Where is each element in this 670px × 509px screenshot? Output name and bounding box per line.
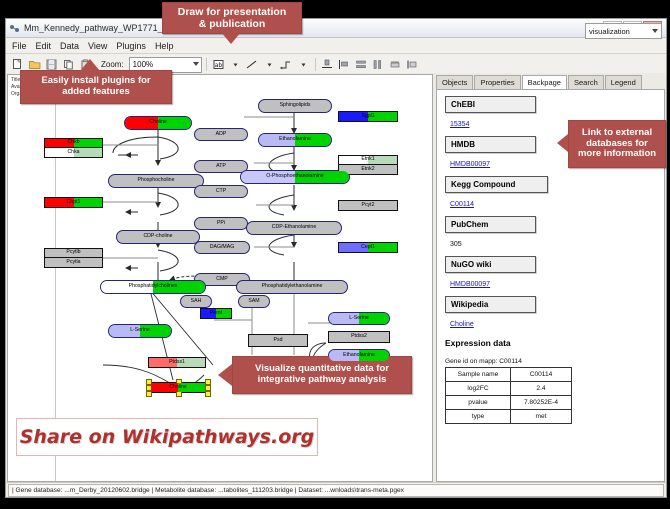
toolbar-separator	[315, 58, 316, 71]
text-label-icon[interactable]: ab	[211, 57, 226, 72]
db-link-kegg-compound[interactable]: C00114	[450, 201, 474, 208]
statusbar: | Gene database: ...m_Derby_20120602.bri…	[6, 482, 666, 497]
expression-table: Sample name C00114 log2FC 2.4 pvalue 7.8…	[445, 367, 572, 424]
callout-line: more information	[578, 149, 656, 160]
node-ethanolamine-bottom[interactable]: Ethanolamine	[328, 349, 390, 362]
cell-label: pvalue	[446, 396, 511, 410]
node-ethanolamine-top[interactable]: Ethanolamine	[258, 133, 332, 147]
node-pcytlb[interactable]: Pcytlb	[44, 248, 103, 258]
callout-link-external-databases: Link to external databases for more info…	[568, 120, 666, 168]
selection-handle[interactable]	[205, 391, 211, 397]
label-dropdown-icon[interactable]	[228, 57, 243, 72]
callout-arrow-down-icon	[221, 32, 241, 44]
db-link-hmdb[interactable]: HMDB00097	[450, 161, 490, 168]
db-link-nugo-wiki[interactable]: HMDB00097	[450, 281, 490, 288]
node-phosphatidylethanolamine[interactable]: Phosphatidylethanolamine	[236, 280, 348, 294]
menu-data[interactable]: Data	[60, 41, 79, 51]
node-l-serine-right[interactable]: L-Serine	[328, 312, 390, 325]
db-title-nugo-wiki: NuGO wiki	[445, 256, 536, 273]
menu-file[interactable]: File	[12, 41, 27, 51]
expression-data-heading: Expression data	[445, 338, 664, 348]
callout-install-plugins: Easily install plugins for added feature…	[20, 70, 172, 104]
table-row: pvalue 7.80252E-4	[446, 396, 572, 410]
node-chka[interactable]: Chka	[44, 148, 103, 158]
callout-draw-for-publication: Draw for presentation & publication	[162, 2, 302, 34]
cell-value: 7.80252E-4	[511, 396, 572, 410]
gene-id-line: Gene id on mapp: C00114	[445, 358, 664, 365]
distribute-horizontal-icon[interactable]	[371, 57, 386, 72]
db-title-hmdb: HMDB	[445, 136, 536, 153]
tab-legend[interactable]: Legend	[605, 75, 642, 89]
table-row: type met	[446, 410, 572, 424]
node-choline-selected[interactable]: Choline	[146, 379, 210, 395]
order-icon[interactable]	[405, 57, 420, 72]
table-row: log2FC 2.4	[446, 382, 572, 396]
node-etnk1[interactable]: Etnk1	[338, 155, 398, 165]
cell-value: met	[511, 410, 572, 424]
db-link-wikipedia[interactable]: Choline	[450, 321, 474, 328]
callout-arrow-left-icon	[218, 364, 232, 386]
node-ctp[interactable]: CTP	[194, 185, 248, 198]
distribute-vertical-icon[interactable]	[354, 57, 369, 72]
svg-text:ab: ab	[214, 62, 222, 69]
node-o-phosphoethanolamine[interactable]: O-Phosphoethanolamine	[240, 170, 350, 184]
align-left-icon[interactable]	[337, 57, 352, 72]
node-chkb[interactable]: Chkb	[44, 138, 103, 148]
node-l-serine-left[interactable]: L-Serine	[108, 324, 172, 338]
menu-view[interactable]: View	[88, 41, 107, 51]
chevron-down-icon	[193, 62, 199, 66]
node-sphingolipids[interactable]: Sphingolipids	[258, 99, 332, 113]
node-dag-mag[interactable]: DAG/MAG	[194, 241, 250, 254]
node-phosphocholine[interactable]: Phosphocholine	[108, 174, 204, 188]
menubar: File Edit Data View Plugins Help	[6, 38, 666, 54]
cell-label: log2FC	[446, 382, 511, 396]
node-sah[interactable]: SAH	[180, 295, 212, 308]
callout-line: integrative pathway analysis	[255, 375, 389, 386]
node-sgpl1[interactable]: Sgpl1	[338, 111, 398, 122]
node-sam[interactable]: SAM	[238, 295, 270, 308]
node-ptdss1[interactable]: Ptdss1	[148, 357, 206, 368]
status-text: | Gene database: ...m_Derby_20120602.bri…	[8, 484, 664, 497]
zoom-label: Zoom:	[101, 60, 124, 69]
node-choline-top[interactable]: Choline	[124, 116, 192, 130]
db-link-chebi[interactable]: 15354	[450, 121, 469, 128]
callout-line: added features	[41, 87, 150, 98]
node-pcytla[interactable]: Pcytla	[44, 258, 103, 268]
menu-edit[interactable]: Edit	[36, 41, 52, 51]
connector-tool-icon[interactable]	[279, 57, 294, 72]
connector-dropdown-icon[interactable]	[296, 57, 311, 72]
screenshot-root: Mm_Kennedy_pathway_WP1771_45176.gpml – □…	[0, 0, 670, 509]
node-cdp-choline[interactable]: CDP-choline	[116, 230, 200, 244]
callout-line: Link to external	[578, 128, 656, 139]
align-top-icon[interactable]	[320, 57, 335, 72]
visualization-combobox[interactable]: visualization	[585, 23, 662, 39]
tab-properties[interactable]: Properties	[474, 75, 520, 89]
callout-arrow-left-icon	[557, 134, 568, 152]
db-title-wikipedia: Wikipedia	[445, 296, 536, 313]
menu-help[interactable]: Help	[155, 41, 174, 51]
cell-value: C00114	[511, 368, 572, 382]
pathvisio-icon	[9, 23, 20, 34]
node-phosphatidylcholines[interactable]: Phosphatidylcholines	[100, 280, 206, 294]
line-tool-icon[interactable]	[245, 57, 260, 72]
node-ptdss2[interactable]: Ptdss2	[328, 331, 390, 343]
share-banner: Share on Wikipathways.org	[16, 418, 318, 456]
tab-objects[interactable]: Objects	[436, 75, 473, 89]
line-dropdown-icon[interactable]	[262, 57, 277, 72]
visualization-value: visualization	[589, 27, 630, 36]
node-adp[interactable]: ADP	[194, 128, 248, 141]
chevron-down-icon	[652, 29, 658, 33]
zoom-value: 100%	[133, 60, 153, 69]
node-ppi[interactable]: PPi	[194, 217, 248, 230]
cell-label: type	[446, 410, 511, 424]
db-value-pubchem: 305	[450, 241, 462, 248]
callout-line: Draw for presentation	[178, 6, 287, 18]
callout-arrow-up-icon	[80, 59, 100, 71]
stack-icon[interactable]	[388, 57, 403, 72]
node-chpt1[interactable]: Chpt1	[44, 197, 103, 208]
toolbar-separator	[206, 58, 207, 71]
db-title-pubchem: PubChem	[445, 216, 536, 233]
callout-visualize-quantitative-data: Visualize quantitative data for integrat…	[232, 356, 412, 394]
tab-search[interactable]: Search	[568, 75, 604, 89]
cell-label: Sample name	[446, 368, 511, 382]
tab-backpage[interactable]: Backpage	[522, 75, 567, 90]
cell-value: 2.4	[511, 382, 572, 396]
callout-line: & publication	[178, 18, 287, 30]
table-row: Sample name C00114	[446, 368, 572, 382]
share-banner-text: Share on Wikipathways.org	[20, 426, 314, 448]
side-tabs: Objects Properties Backpage Search Legen…	[434, 74, 665, 89]
menu-plugins[interactable]: Plugins	[116, 41, 146, 51]
node-cdp-ethanolamine[interactable]: CDP-Ethanolamine	[246, 221, 342, 235]
node-psd[interactable]: Psd	[248, 334, 308, 347]
node-pemt[interactable]: Pemt	[200, 308, 232, 319]
db-title-chebi: ChEBI	[445, 96, 536, 113]
window-titlebar: Mm_Kennedy_pathway_WP1771_45176.gpml – □…	[6, 19, 666, 38]
node-atp[interactable]: ATP	[194, 160, 248, 173]
node-cept1[interactable]: Cept1	[338, 242, 398, 253]
node-pcyt2[interactable]: Pcyt2	[338, 200, 398, 211]
db-title-kegg-compound: Kegg Compound	[445, 176, 548, 193]
